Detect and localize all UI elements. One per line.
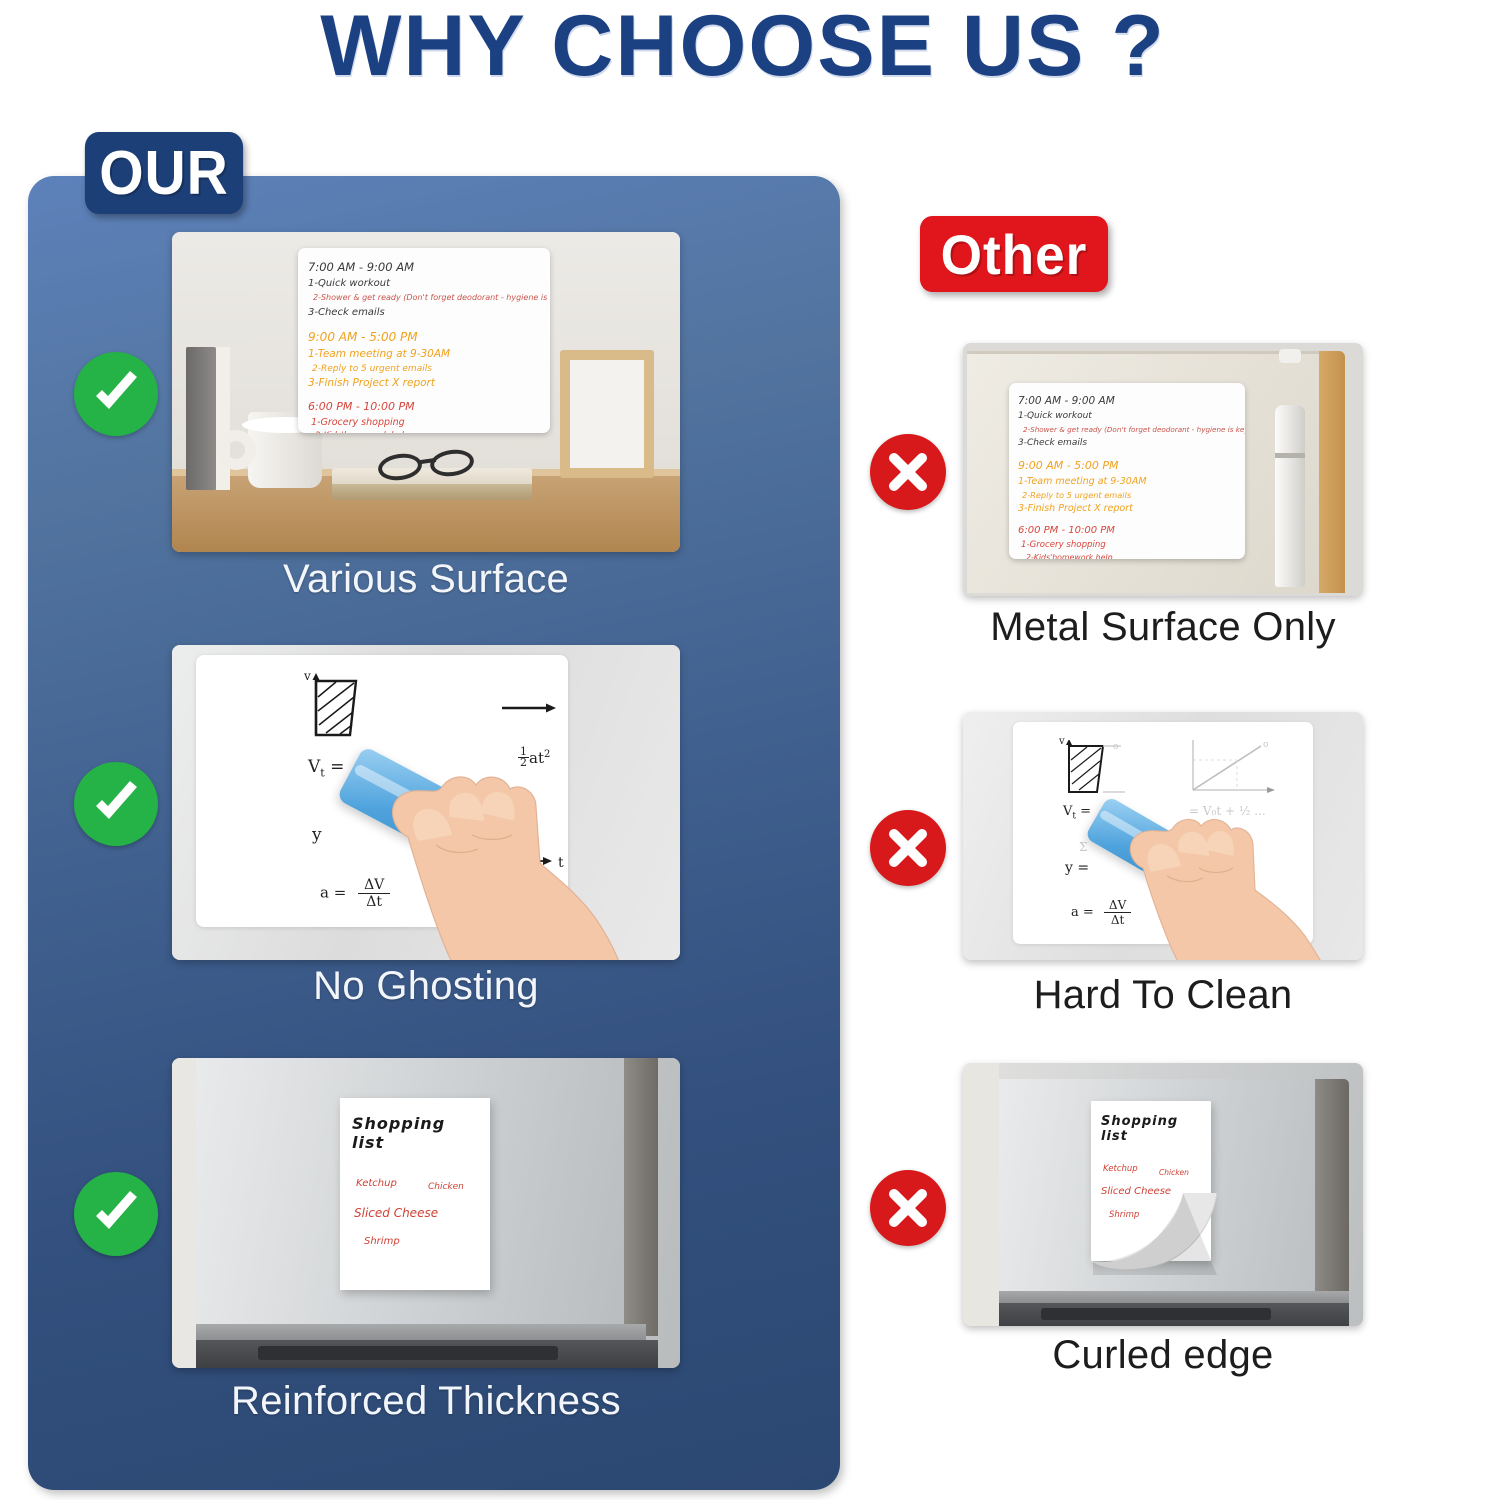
note-item: 2-Shower & get ready (Don't forget deodo… bbox=[308, 291, 540, 305]
infographic-root: WHY CHOOSE US ? OUR bbox=[0, 0, 1486, 1500]
shopping-list-heading: Shopping list bbox=[352, 1114, 478, 1152]
our-feature-1-caption: Various Surface bbox=[172, 556, 680, 602]
formula-y: y bbox=[312, 825, 322, 845]
shopping-list-item: Chicken bbox=[1159, 1168, 1189, 1177]
check-circle-icon-2 bbox=[74, 762, 158, 846]
note-time-1: 7:00 AM - 9:00 AM bbox=[1018, 393, 1236, 409]
cross-circle-icon-3 bbox=[870, 1170, 946, 1246]
note-item: 3-Check emails bbox=[308, 305, 540, 320]
note-item: 1-Team meeting at 9-30AM bbox=[308, 347, 540, 362]
our-feature-3-image: Shopping list Ketchup Chicken Sliced Che… bbox=[172, 1058, 680, 1368]
formula-axis-v: v bbox=[1059, 736, 1065, 747]
shopping-list-item: Ketchup bbox=[1103, 1164, 1138, 1174]
our-feature-2-image: v Vt = 1 2 at2 ΔEx bbox=[172, 645, 680, 960]
shopping-list-item: Sliced Cheese bbox=[354, 1206, 438, 1220]
other-badge-label: Other bbox=[941, 222, 1088, 287]
whiteboard-note-1: 7:00 AM - 9:00 AM 1-Quick workout 2-Show… bbox=[298, 248, 550, 433]
shopping-list-heading: Shopping list bbox=[1101, 1114, 1201, 1144]
note-time-3: 6:00 PM - 10:00 PM bbox=[1018, 522, 1236, 539]
other-feature-1-image: 7:00 AM - 9:00 AM 1-Quick workout 2-Show… bbox=[963, 343, 1363, 596]
note-item: 3-Finish Project X report bbox=[308, 376, 540, 391]
formula-vt: Vt = bbox=[308, 757, 344, 779]
our-badge-label: OUR bbox=[99, 138, 229, 209]
other-feature-2-image: v o o Vt = = V₀t + ½ ... Σ ΔEx bbox=[963, 712, 1363, 960]
note-item: 1-Grocery shopping bbox=[1018, 539, 1236, 552]
note-item: 2-Kids'homework help bbox=[1018, 552, 1236, 559]
note-time-1: 7:00 AM - 9:00 AM bbox=[308, 259, 540, 276]
shopping-list-item: Chicken bbox=[428, 1182, 464, 1192]
note-item: 3-Finish Project X report bbox=[1018, 502, 1236, 516]
our-badge: OUR bbox=[85, 132, 243, 214]
formula-axis-v: v bbox=[304, 669, 311, 683]
note-item: 1-Team meeting at 9-30AM bbox=[1018, 475, 1236, 489]
whiteboard-note-2: 7:00 AM - 9:00 AM 1-Quick workout 2-Show… bbox=[1009, 383, 1245, 559]
check-circle-icon-3 bbox=[74, 1172, 158, 1256]
formula-vt: Vt = bbox=[1063, 804, 1091, 822]
our-feature-2-caption: No Ghosting bbox=[172, 963, 680, 1009]
note-time-2: 9:00 AM - 5:00 PM bbox=[308, 328, 540, 347]
note-item: 1-Quick workout bbox=[1018, 409, 1236, 423]
shopping-list-note-1: Shopping list Ketchup Chicken Sliced Che… bbox=[340, 1098, 490, 1290]
curled-corner-icon bbox=[1091, 1193, 1217, 1275]
shopping-list-item: Ketchup bbox=[356, 1178, 397, 1189]
note-item: 2-Reply to 5 urgent emails bbox=[308, 362, 540, 376]
check-circle-icon-1 bbox=[74, 352, 158, 436]
note-item: 1-Quick workout bbox=[308, 276, 540, 291]
other-badge: Other bbox=[920, 216, 1108, 292]
page-title: WHY CHOOSE US ? bbox=[0, 0, 1486, 94]
ghost-sigma: Σ bbox=[1079, 840, 1087, 854]
ghost-mark-o: o bbox=[1113, 742, 1118, 752]
shopping-list-item: Shrimp bbox=[364, 1236, 400, 1247]
note-item: 2-Reply to 5 urgent emails bbox=[1018, 489, 1236, 502]
note-item: 2-Kids'homework help bbox=[308, 430, 540, 433]
other-feature-2-caption: Hard To Clean bbox=[963, 972, 1363, 1018]
our-feature-3-caption: Reinforced Thickness bbox=[152, 1378, 700, 1424]
other-feature-3-caption: Curled edge bbox=[963, 1332, 1363, 1378]
other-feature-1-caption: Metal Surface Only bbox=[963, 604, 1363, 650]
formula-y: y = bbox=[1065, 860, 1089, 876]
note-time-2: 9:00 AM - 5:00 PM bbox=[1018, 457, 1236, 475]
cross-circle-icon-1 bbox=[870, 434, 946, 510]
cross-circle-icon-2 bbox=[870, 810, 946, 886]
note-time-3: 6:00 PM - 10:00 PM bbox=[308, 398, 540, 416]
ghost-mark-o2: o bbox=[1263, 740, 1268, 750]
our-feature-1-image: 7:00 AM - 9:00 AM 1-Quick workout 2-Show… bbox=[172, 232, 680, 552]
note-item: 1-Grocery shopping bbox=[308, 416, 540, 430]
note-item: 3-Check emails bbox=[1018, 436, 1236, 450]
note-item: 2-Shower & get ready (Don't forget deodo… bbox=[1018, 423, 1236, 436]
other-feature-3-image: Shopping list Ketchup Chicken Sliced Che… bbox=[963, 1063, 1363, 1326]
